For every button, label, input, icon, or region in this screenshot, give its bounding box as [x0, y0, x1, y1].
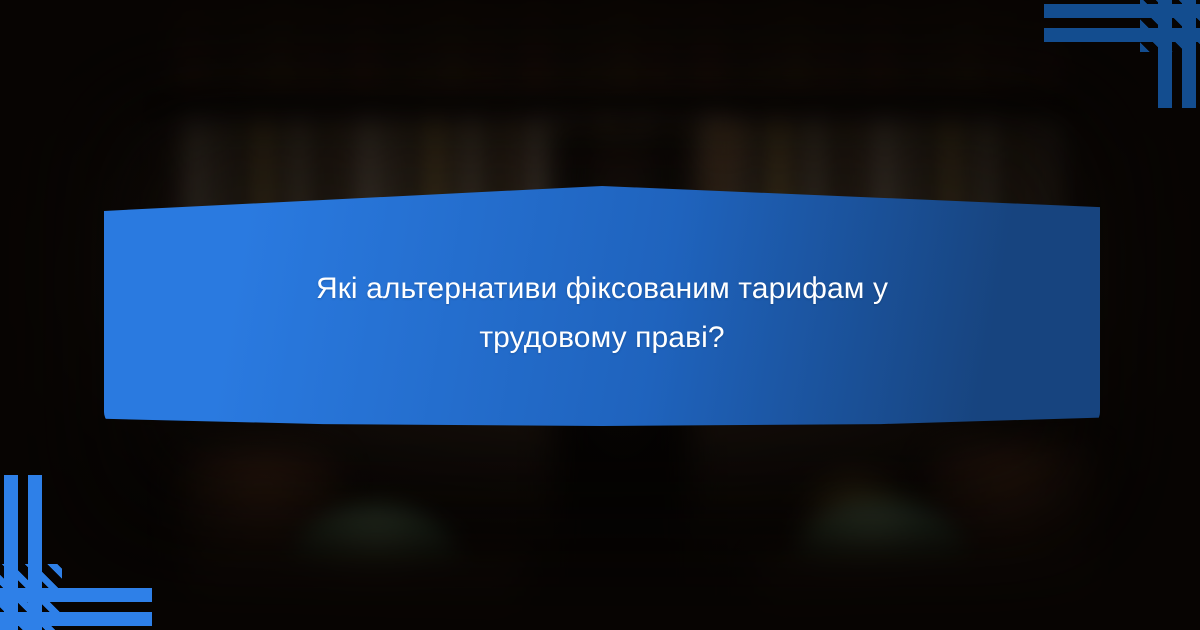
headline-text: Які альтернативи фіксованим тарифам у тр…: [242, 265, 962, 362]
bracket-hatch-pattern: [1140, 0, 1200, 52]
banner-text-area: Які альтернативи фіксованим тарифам у тр…: [104, 186, 1100, 426]
headline-banner: Які альтернативи фіксованим тарифам у тр…: [104, 186, 1100, 426]
corner-bracket-bottom-left: [0, 440, 160, 630]
bracket-hatch-pattern: [0, 564, 62, 630]
corner-bracket-top-right: [1040, 0, 1200, 112]
